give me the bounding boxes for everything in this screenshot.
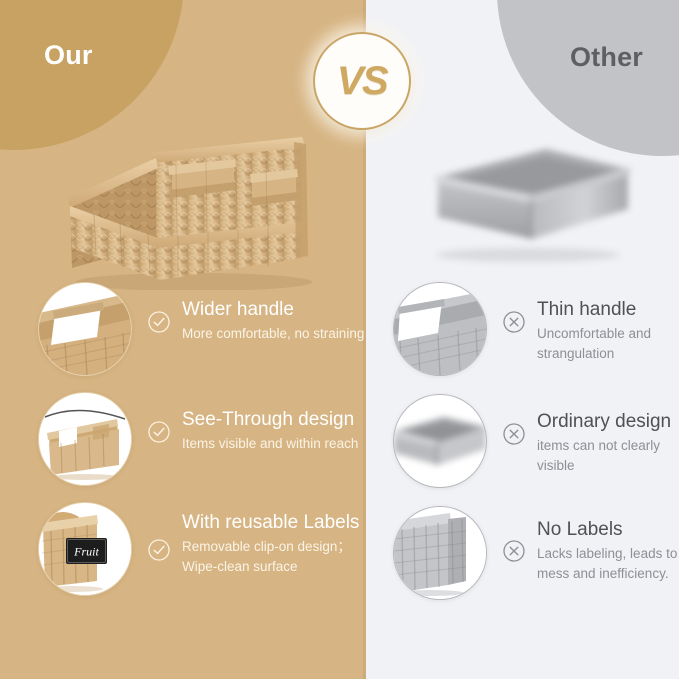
feature-title: Ordinary design	[537, 411, 679, 433]
gray-bin-plain-closeup-icon	[394, 395, 486, 487]
other-feature-list: Thin handle Uncomfortable and strangulat…	[366, 282, 679, 614]
feature-row: Ordinary design items can not clearly vi…	[366, 394, 679, 488]
feature-text: Thin handle Uncomfortable and strangulat…	[537, 282, 679, 363]
feature-title: Thin handle	[537, 299, 679, 321]
check-circle-icon	[147, 420, 171, 444]
gray-basket-no-label-closeup-icon	[394, 507, 486, 599]
x-circle-icon	[502, 310, 526, 334]
feature-row: Thin handle Uncomfortable and strangulat…	[366, 282, 679, 376]
feature-thumbnail	[393, 506, 487, 600]
feature-subtitle: More comfortable, no straining	[182, 324, 366, 343]
feature-thumbnail	[38, 282, 132, 376]
feature-text: Ordinary design items can not clearly vi…	[537, 394, 679, 475]
feature-text: With reusable Labels Removable clip-on d…	[182, 502, 366, 576]
feature-subtitle: Lacks labeling, leads to mess and ineffi…	[537, 544, 679, 582]
feature-thumbnail	[393, 394, 487, 488]
x-circle-icon	[502, 539, 526, 563]
feature-subtitle: items can not clearly visible	[537, 436, 679, 474]
check-circle-icon	[147, 310, 171, 334]
feature-subtitle: Uncomfortable and strangulation	[537, 324, 679, 362]
gray-basket-thin-handle-closeup-icon	[394, 283, 486, 375]
feature-row: Wider handle More comfortable, no strain…	[0, 282, 366, 376]
comparison-infographic: Our Other VS	[0, 0, 679, 679]
other-label: Other	[570, 42, 643, 73]
feature-title: See-Through design	[182, 409, 366, 431]
feature-row: No Labels Lacks labeling, leads to mess …	[366, 506, 679, 600]
feature-thumbnail	[38, 392, 132, 486]
feature-subtitle: Removable clip-on design；Wipe-clean surf…	[182, 537, 366, 575]
x-circle-icon	[502, 422, 526, 446]
feature-text: Wider handle More comfortable, no strain…	[182, 282, 366, 344]
feature-row: Fruit With reusable Labels Removable cli…	[0, 502, 366, 596]
other-product-image	[424, 133, 638, 266]
chalkboard-label-text: Fruit	[73, 545, 99, 559]
check-circle-icon	[147, 538, 171, 562]
feature-title: No Labels	[537, 519, 679, 541]
our-feature-list: Wider handle More comfortable, no strain…	[0, 282, 366, 610]
versus-badge-text: VS	[337, 61, 387, 101]
basket-open-front-closeup-icon	[39, 393, 131, 485]
feature-row: See-Through design Items visible and wit…	[0, 392, 366, 486]
basket-wide-handle-closeup-icon	[39, 283, 131, 375]
feature-text: No Labels Lacks labeling, leads to mess …	[537, 506, 679, 583]
feature-title: Wider handle	[182, 299, 366, 321]
feature-title: With reusable Labels	[182, 512, 366, 534]
gray-bin-illustration	[424, 133, 638, 266]
woven-basket-illustration	[44, 122, 334, 290]
basket-with-chalkboard-label-icon: Fruit	[39, 503, 131, 595]
feature-thumbnail	[393, 282, 487, 376]
feature-text: See-Through design Items visible and wit…	[182, 392, 366, 454]
feature-thumbnail: Fruit	[38, 502, 132, 596]
our-label: Our	[44, 40, 93, 71]
our-product-image	[44, 122, 334, 290]
feature-subtitle: Items visible and within reach	[182, 434, 366, 453]
versus-badge: VS	[313, 32, 411, 130]
